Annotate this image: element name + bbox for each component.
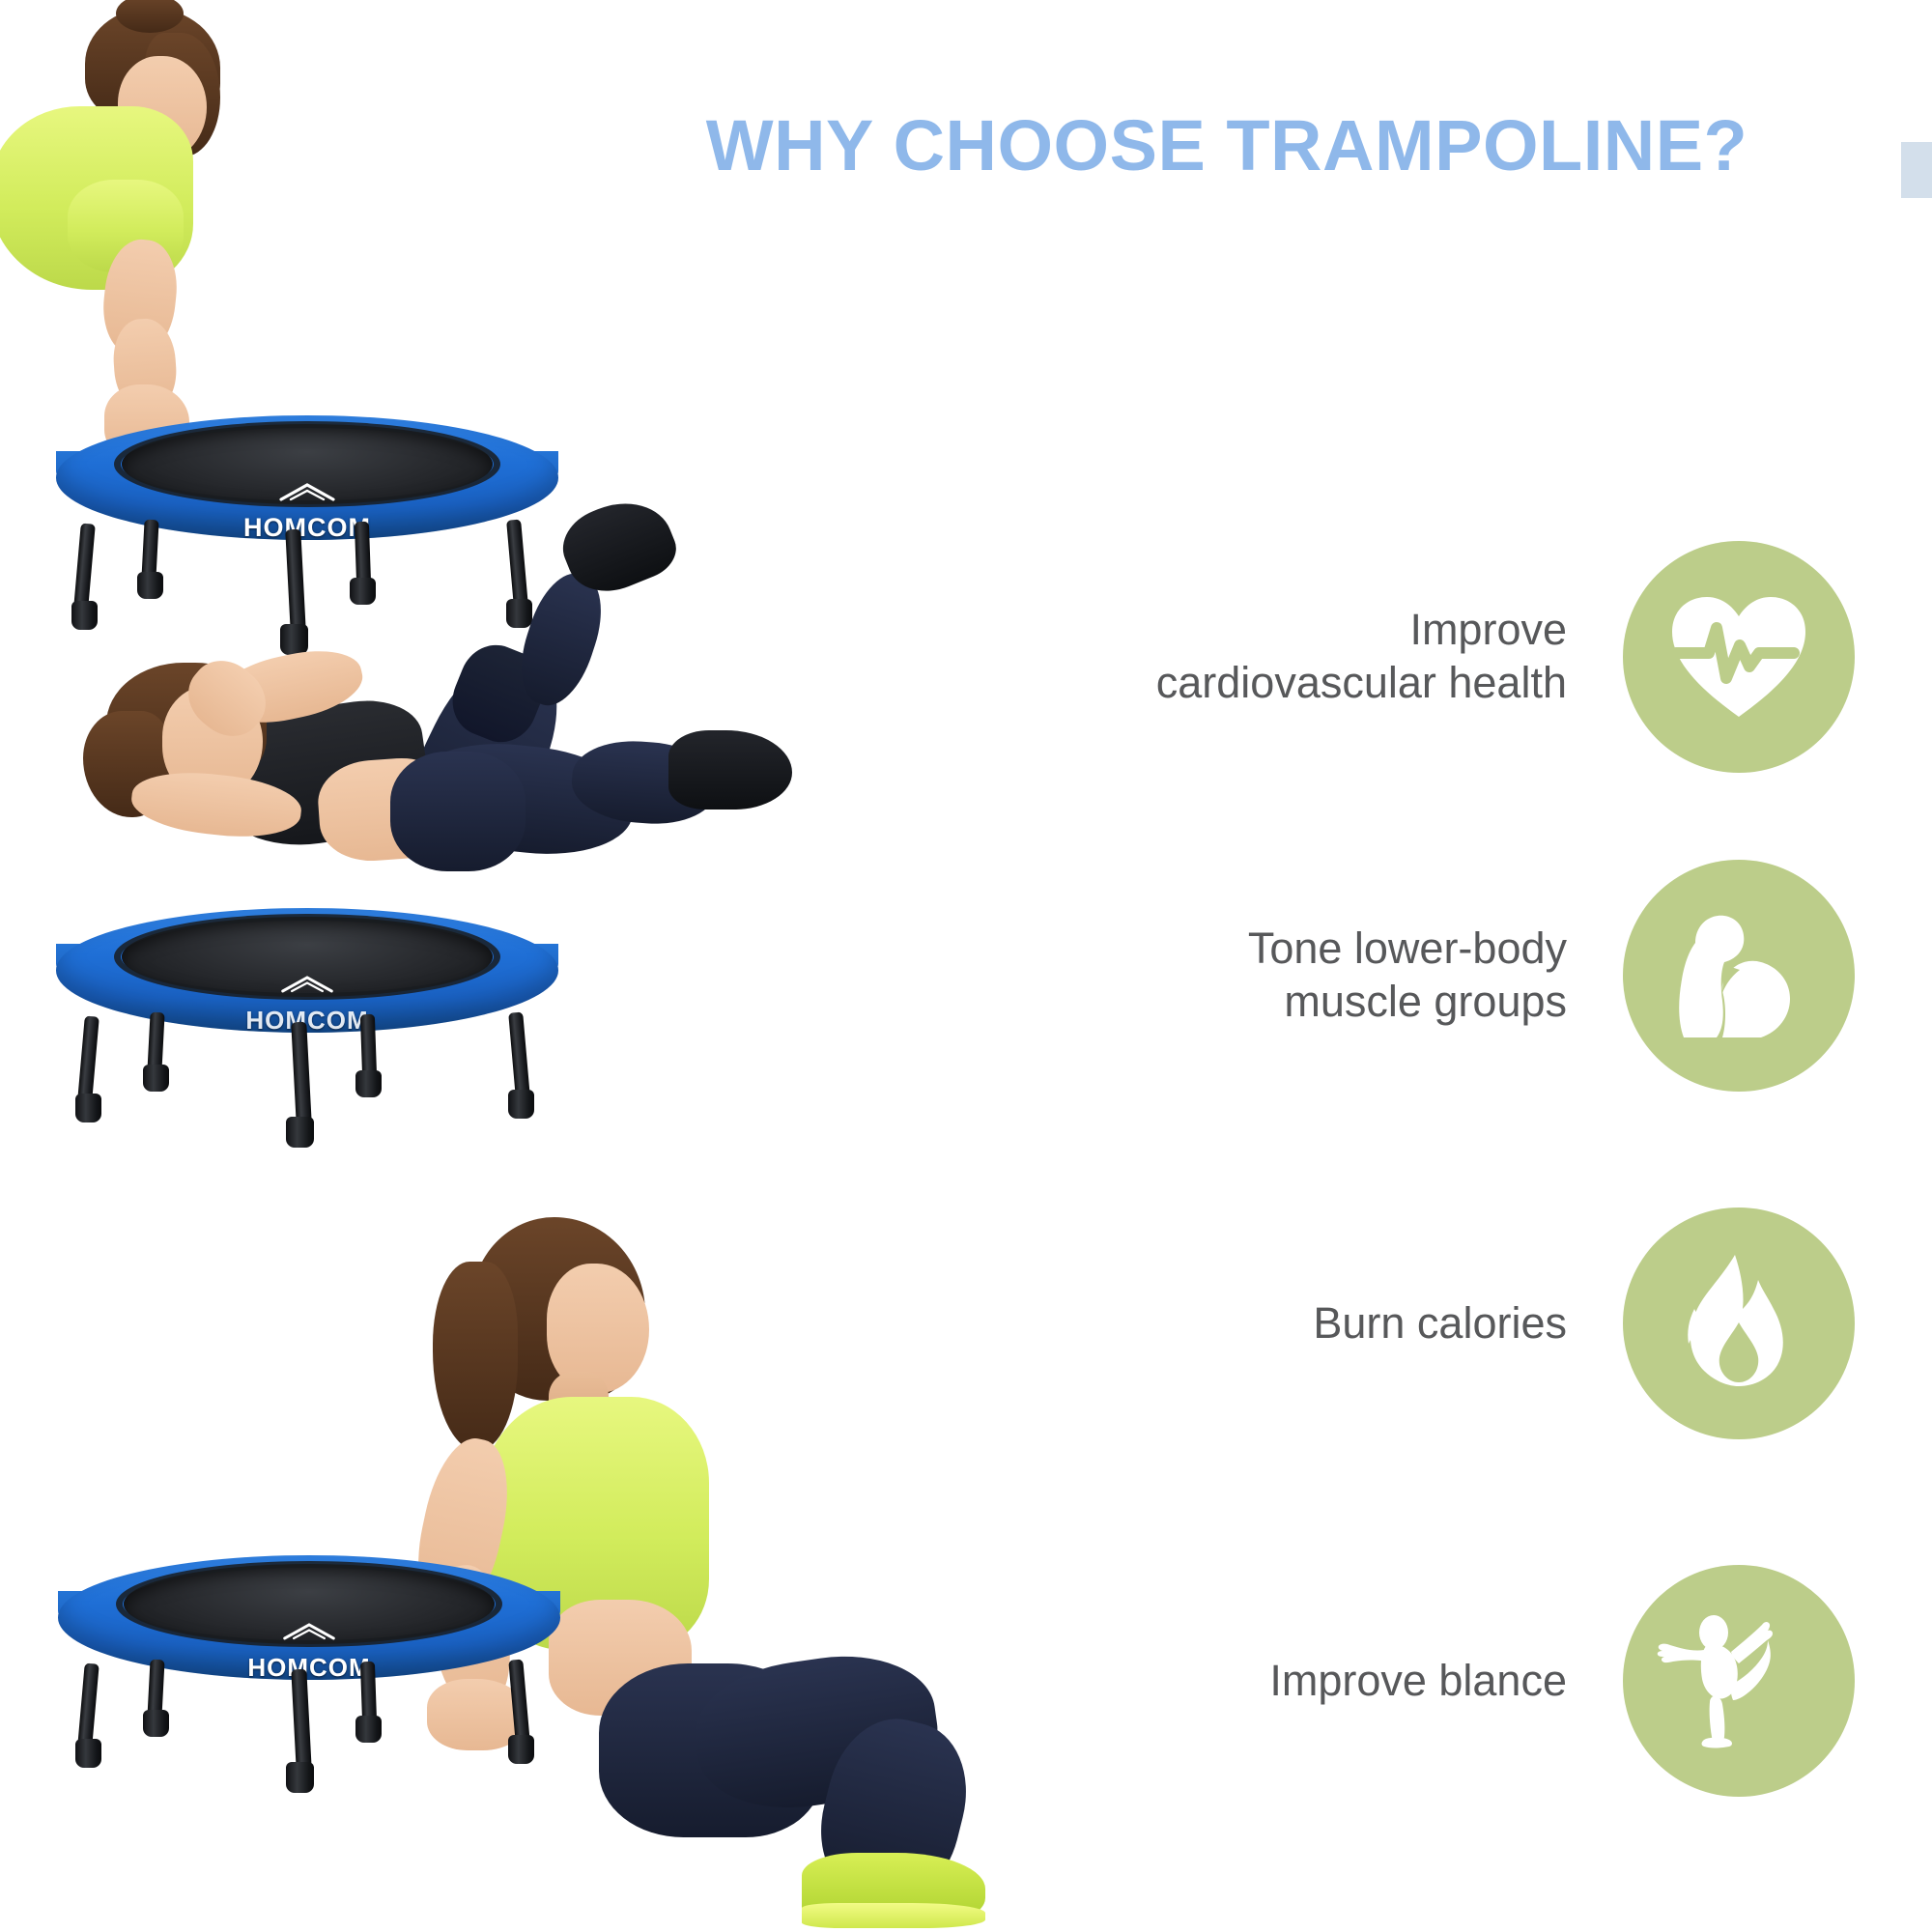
- trampoline-leg: [291, 1022, 312, 1125]
- brand-label: HOMCOM: [56, 513, 558, 543]
- trampoline-leg: [147, 1012, 164, 1073]
- ponytail: [433, 1262, 518, 1451]
- house-roof-icon: [279, 975, 335, 993]
- benefit-item-muscle-tone: Tone lower-body muscle groups: [966, 860, 1855, 1092]
- benefit-icon-circle: [1623, 860, 1855, 1092]
- benefit-icon-circle: [1623, 541, 1855, 773]
- trampoline-foot: [75, 1739, 101, 1768]
- benefit-icon-circle: [1623, 1207, 1855, 1439]
- shoe-sole: [802, 1903, 985, 1928]
- trampoline-foot: [143, 1710, 169, 1737]
- yoga-balance-pose-icon: [1654, 1604, 1824, 1758]
- trampoline-foot: [508, 1090, 534, 1119]
- person-push-up: [0, 0, 406, 454]
- benefit-label: Improve blance: [966, 1655, 1623, 1708]
- benefit-item-cardiovascular: Improve cardiovascular health: [966, 541, 1855, 773]
- shoe-extended: [668, 730, 792, 810]
- trampoline-foot: [286, 1762, 314, 1793]
- house-roof-icon: [277, 482, 337, 501]
- benefit-icon-circle: [1623, 1565, 1855, 1797]
- flexed-bicep-icon: [1666, 908, 1811, 1043]
- trampoline-foot: [355, 1716, 382, 1743]
- trampoline-foot: [286, 1117, 314, 1148]
- trampoline-leg: [360, 1014, 377, 1078]
- photo-woman-tricep-dip-on-trampoline: HOMCOM: [58, 1227, 1121, 1932]
- benefit-label: Improve cardiovascular health: [966, 604, 1623, 710]
- benefit-label: Tone lower-body muscle groups: [966, 923, 1623, 1029]
- brand-label: HOMCOM: [56, 1006, 558, 1036]
- benefit-item-burn-calories: Burn calories: [966, 1207, 1855, 1439]
- benefit-item-improve-balance: Improve blance: [966, 1565, 1855, 1797]
- brand-label: HOMCOM: [58, 1653, 560, 1683]
- trampoline-product: HOMCOM: [56, 908, 558, 1130]
- trampoline-leg: [360, 1662, 377, 1723]
- flame-icon: [1671, 1253, 1806, 1394]
- header-accent-block: [1901, 142, 1932, 198]
- trampoline-foot: [75, 1094, 101, 1122]
- page-title: WHY CHOOSE TRAMPOLINE?: [580, 104, 1874, 186]
- photo-woman-crunch-on-trampoline: HOMCOM: [39, 541, 889, 1217]
- heart-pulse-icon: [1666, 589, 1811, 724]
- trampoline-foot: [355, 1070, 382, 1097]
- trampoline-foot: [143, 1065, 169, 1092]
- infographic-page: WHY CHOOSE TRAMPOLINE?: [0, 0, 1932, 1932]
- hips: [390, 752, 526, 871]
- trampoline-product: HOMCOM: [58, 1555, 560, 1777]
- trampoline-foot: [508, 1735, 534, 1764]
- house-roof-icon: [281, 1622, 337, 1640]
- benefit-label: Burn calories: [966, 1297, 1623, 1350]
- trampoline-leg: [291, 1669, 311, 1771]
